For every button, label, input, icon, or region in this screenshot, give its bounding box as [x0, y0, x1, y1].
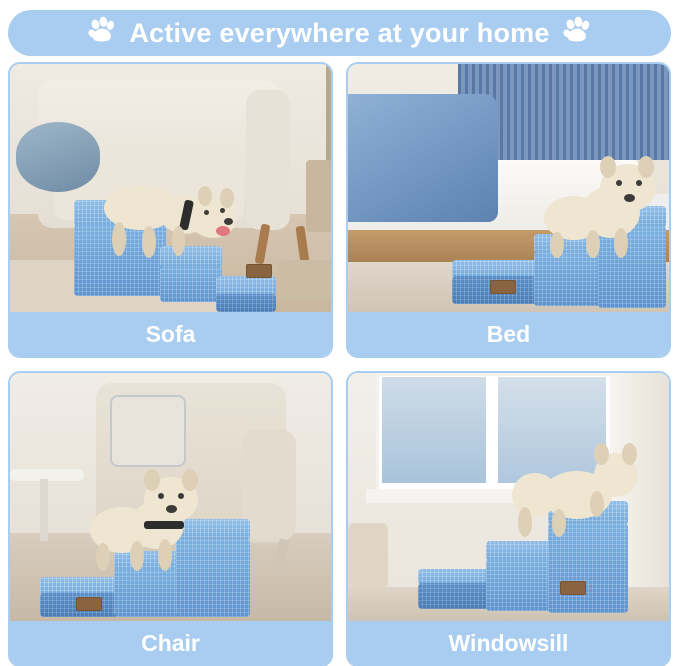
dog-leg — [130, 541, 144, 571]
dog-leg — [586, 230, 600, 258]
scene-photo-windowsill — [348, 373, 669, 623]
stool — [348, 523, 388, 589]
plant-pot — [306, 160, 331, 232]
dog-ear — [182, 469, 198, 491]
card-caption-chair: Chair — [10, 621, 331, 665]
stair-step-low — [216, 276, 276, 296]
caption-label: Windowsill — [449, 630, 569, 657]
dog-leg — [518, 507, 532, 537]
dog-ear — [594, 443, 609, 465]
stair-body-low — [216, 294, 276, 312]
dog-ear — [144, 469, 160, 491]
dog-nose — [166, 505, 177, 513]
dog-ear — [638, 156, 654, 178]
card-caption-sofa: Sofa — [10, 312, 331, 356]
sofa-arm — [246, 90, 290, 230]
product-infographic: Active everywhere at your home — [0, 0, 679, 666]
dog-leg — [142, 226, 156, 258]
dog-ear — [622, 443, 637, 465]
dog-leg — [614, 228, 628, 258]
dog-leg — [158, 539, 172, 571]
dog-eye — [220, 208, 225, 213]
dog-eye — [616, 180, 622, 186]
dog — [534, 160, 669, 256]
dog — [498, 439, 658, 539]
page-title: Active everywhere at your home — [129, 18, 549, 49]
stair-body-middle — [114, 569, 180, 617]
patterned-pillow — [110, 395, 186, 467]
brand-tag — [560, 581, 586, 595]
card-caption-windowsill: Windowsill — [348, 621, 669, 665]
window-pane — [382, 377, 486, 483]
scene-grid: Sofa — [8, 62, 671, 658]
dog-eye — [204, 210, 209, 215]
brand-tag — [490, 280, 516, 294]
dog-leg — [96, 543, 110, 571]
scene-photo-bed — [348, 64, 669, 314]
blanket — [348, 94, 498, 222]
stair-step-middle — [486, 541, 552, 561]
armchair-arm — [242, 429, 296, 541]
scene-card-chair[interactable]: Chair — [8, 371, 333, 666]
scene-card-bed[interactable]: Bed — [346, 62, 671, 358]
dog-leg — [112, 222, 126, 256]
throw-pillow — [16, 122, 100, 192]
dog-hind — [512, 473, 558, 517]
scene-photo-sofa — [10, 64, 331, 314]
dog-ear — [220, 188, 234, 208]
card-caption-bed: Bed — [348, 312, 669, 356]
dog-tongue — [216, 226, 230, 236]
dog-leg — [172, 226, 185, 256]
caption-label: Chair — [141, 630, 200, 657]
side-table-leg — [40, 479, 48, 541]
scene-card-sofa[interactable]: Sofa — [8, 62, 333, 358]
brand-tag — [246, 264, 272, 278]
dog-eye — [636, 180, 642, 186]
dog-eye — [178, 493, 184, 499]
brand-tag — [76, 597, 102, 611]
dog-nose — [224, 218, 233, 225]
paw-icon — [562, 16, 592, 51]
dog-nose — [624, 194, 635, 202]
scene-card-windowsill[interactable]: Windowsill — [346, 371, 671, 666]
basket — [278, 260, 331, 300]
stair-body-middle — [486, 559, 552, 611]
dog-collar — [144, 521, 184, 529]
stair-body-middle — [534, 252, 602, 306]
stair-body-middle — [160, 266, 222, 302]
scene-photo-chair — [10, 373, 331, 623]
dog-leg — [590, 491, 604, 517]
caption-label: Bed — [487, 321, 530, 348]
header-banner: Active everywhere at your home — [8, 10, 671, 56]
dog-ear — [600, 156, 616, 178]
dog — [98, 170, 248, 256]
dog — [86, 473, 236, 569]
dog-eye — [158, 493, 164, 499]
paw-icon — [87, 16, 117, 51]
dog-leg — [552, 509, 566, 537]
dog-leg — [550, 232, 564, 258]
caption-label: Sofa — [146, 321, 196, 348]
stair-body-low — [418, 583, 490, 609]
dog-ear — [198, 186, 212, 206]
